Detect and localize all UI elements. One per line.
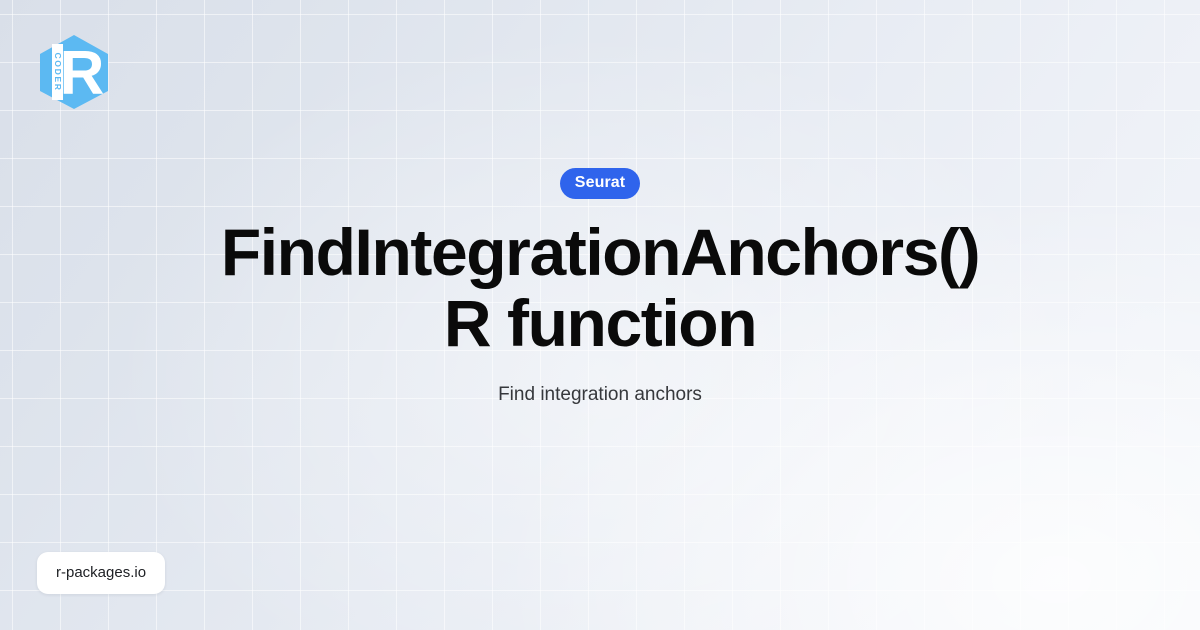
page-title: FindIntegrationAnchors() R function (221, 217, 979, 360)
page-title-line-2: R function (444, 286, 756, 360)
logo-letter-text: R (60, 39, 105, 108)
site-label-pill[interactable]: r-packages.io (37, 552, 165, 594)
r-coder-hexagon-logo-icon[interactable]: CODER R (38, 34, 110, 110)
page-title-line-1: FindIntegrationAnchors() (221, 215, 979, 289)
package-badge[interactable]: Seurat (560, 168, 640, 199)
hero-content: Seurat FindIntegrationAnchors() R functi… (0, 168, 1200, 407)
og-card: CODER R Seurat FindIntegrationAnchors() … (0, 0, 1200, 630)
page-subtitle: Find integration anchors (498, 382, 702, 408)
